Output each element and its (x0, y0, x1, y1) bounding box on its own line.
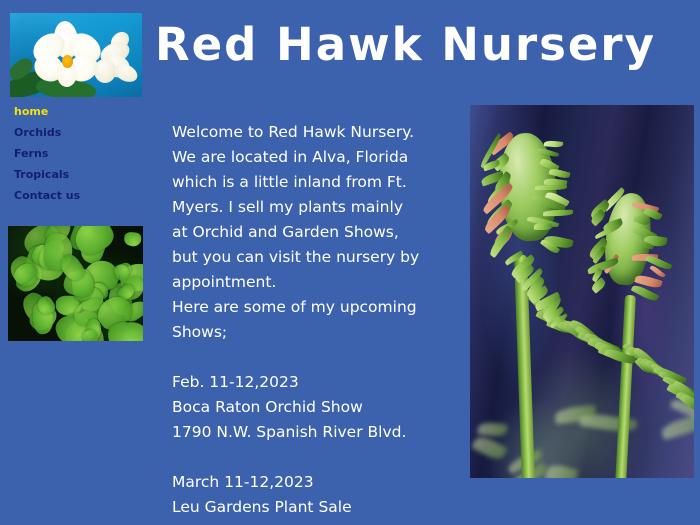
show-name: Boca Raton Orchid Show (172, 395, 454, 420)
orchid-lip-center (62, 55, 73, 68)
maidenhair-fern-thumbnail-image (8, 226, 143, 341)
sidebar-item-ferns[interactable]: Ferns (0, 146, 160, 161)
text-spacer (172, 445, 454, 470)
welcome-line: appointment. (172, 270, 454, 295)
shows-intro-line: Here are some of my upcoming (172, 295, 454, 320)
show-date: Feb. 11-12,2023 (172, 370, 454, 395)
fern-leaflet (108, 322, 143, 341)
orchid-logo-image (10, 13, 142, 97)
site-header: Red Hawk Nursery (0, 0, 700, 100)
fern-fiddlehead-image (470, 105, 694, 478)
fern-pinna (534, 222, 552, 230)
sidebar-item-contact-us[interactable]: Contact us (0, 188, 160, 203)
sidebar-item-tropicals[interactable]: Tropicals (0, 167, 160, 182)
sidebar-item-home[interactable]: home (0, 104, 160, 119)
welcome-line: at Orchid and Garden Shows, (172, 220, 454, 245)
page-title: Red Hawk Nursery (155, 22, 656, 67)
welcome-line: which is a little inland from Ft. (172, 170, 454, 195)
welcome-line: Myers. I sell my plants mainly (172, 195, 454, 220)
main-content: Welcome to Red Hawk Nursery. We are loca… (172, 120, 454, 520)
show-name: Leu Gardens Plant Sale (172, 495, 454, 520)
welcome-line: Welcome to Red Hawk Nursery. (172, 120, 454, 145)
show-date: March 11-12,2023 (172, 470, 454, 495)
show-address: 1790 N.W. Spanish River Blvd. (172, 420, 454, 445)
text-spacer (172, 345, 454, 370)
sidebar-nav: home Orchids Ferns Tropicals Contact us (0, 104, 160, 209)
sidebar-item-orchids[interactable]: Orchids (0, 125, 160, 140)
welcome-line: but you can visit the nursery by (172, 245, 454, 270)
shows-intro-line: Shows; (172, 320, 454, 345)
fern-foliage-blur (477, 421, 507, 437)
welcome-line: We are located in Alva, Florida (172, 145, 454, 170)
